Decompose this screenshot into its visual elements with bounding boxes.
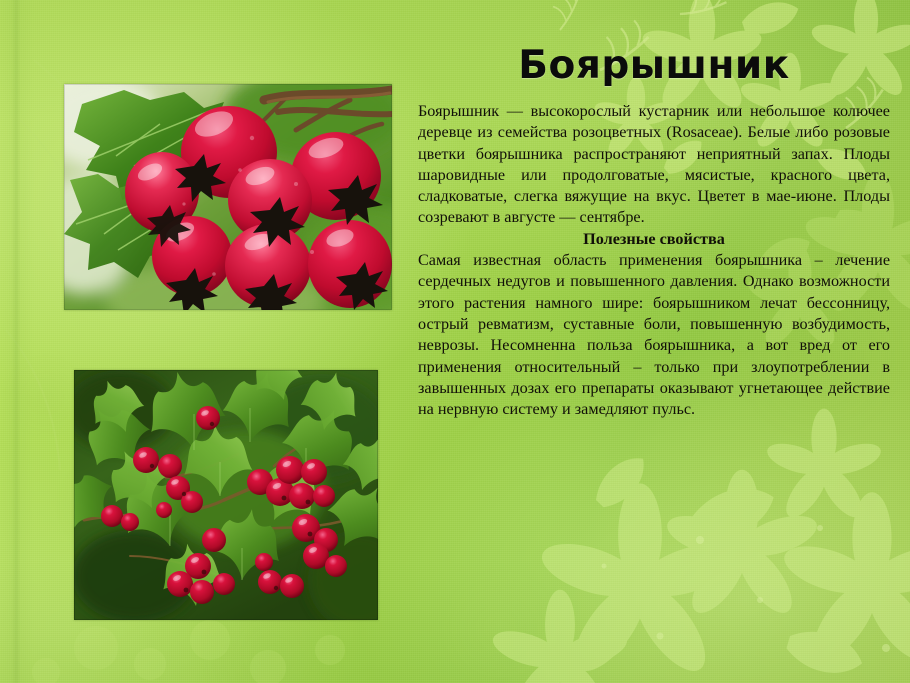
slide-left-edge-band — [0, 0, 34, 683]
subheading-useful-properties: Полезные свойства — [418, 229, 890, 250]
text-content-column: Боярышник Боярышник — высокорослый куста… — [418, 46, 890, 420]
hawthorn-berries-closeup-photo — [64, 84, 392, 310]
paragraph-description: Боярышник — высокорослый кустарник или н… — [418, 101, 890, 229]
page-title: Боярышник — [418, 46, 890, 85]
presentation-slide: Боярышник Боярышник — высокорослый куста… — [0, 0, 910, 683]
paragraph-useful-properties: Самая известная область применения бояры… — [418, 250, 890, 420]
hawthorn-bush-photo — [74, 370, 378, 620]
